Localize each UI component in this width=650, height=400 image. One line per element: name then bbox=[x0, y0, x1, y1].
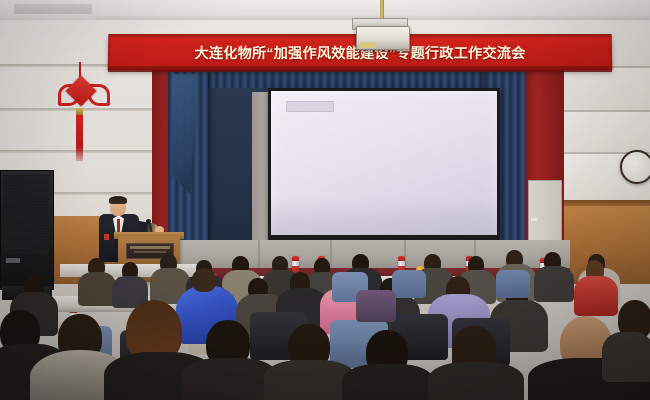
chinese-knot-tassel bbox=[76, 115, 83, 161]
projected-window-titlebar bbox=[286, 101, 334, 112]
presenter-badge bbox=[104, 234, 109, 240]
podium-plaque-text-line bbox=[134, 251, 166, 253]
projector-lens-icon bbox=[360, 42, 376, 48]
chair[interactable] bbox=[356, 290, 396, 322]
door-handle[interactable] bbox=[531, 218, 537, 221]
wall-panel bbox=[556, 112, 650, 154]
pa-speaker-grille bbox=[3, 174, 49, 254]
presenter-tie bbox=[117, 219, 120, 232]
pa-speaker-logo bbox=[6, 258, 20, 263]
curtain-valance bbox=[192, 70, 522, 88]
chair[interactable] bbox=[392, 270, 426, 298]
conference-hall-photo: 大连化物所“加强作风效能建设”专题行政工作交流会 bbox=[0, 0, 650, 400]
presenter-hair bbox=[109, 196, 127, 204]
screen-left-edge bbox=[252, 92, 268, 240]
podium-plaque-text-line bbox=[130, 246, 170, 249]
screen-gradient bbox=[271, 198, 497, 235]
chair[interactable] bbox=[496, 270, 530, 298]
ceiling-vent bbox=[14, 4, 92, 14]
microphone-icon bbox=[146, 219, 151, 223]
wall-panel bbox=[556, 68, 650, 112]
wall-clock bbox=[620, 150, 650, 184]
